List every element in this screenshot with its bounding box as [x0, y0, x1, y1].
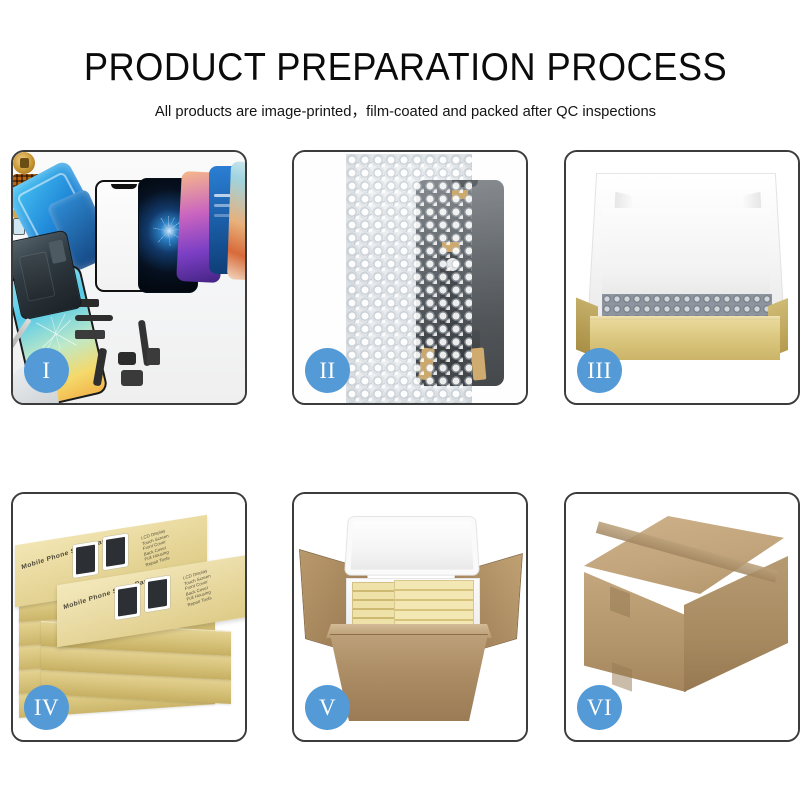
bubble-texture	[346, 154, 472, 403]
product-preparation-process-page: PRODUCT PREPARATION PROCESS All products…	[0, 0, 811, 811]
step-badge-3: III	[577, 348, 622, 393]
tape-right-icon	[471, 347, 487, 380]
step-badge-1: I	[24, 348, 69, 393]
gradient-phone-icon	[227, 161, 245, 280]
box-screen-thumb	[103, 533, 128, 570]
box-label-text: Mobile Phone Spare Parts	[21, 536, 112, 571]
process-step-panel-1: I	[11, 150, 247, 405]
foam-box-lid	[344, 516, 480, 576]
vibration-motor-icon	[13, 152, 35, 174]
carton-body	[330, 634, 488, 721]
speaker-icon	[121, 370, 143, 386]
step-badge-6: VI	[577, 685, 622, 730]
foam-pad	[602, 208, 770, 300]
box-spec-list: LCD Display Touch Screen Front Cover Bac…	[141, 519, 200, 568]
button-part-icon	[118, 352, 136, 365]
bubble-bag	[346, 154, 472, 403]
process-step-panel-6: VI	[564, 492, 800, 742]
earpiece-strip-icon	[75, 315, 113, 321]
process-step-panel-4: Mobile Phone Spare Parts LCD Display Tou…	[11, 492, 247, 742]
camera-module-icon	[147, 348, 160, 365]
box-screen-thumb	[73, 541, 98, 578]
carton-left-face	[584, 572, 686, 692]
box-spec-list: LCD Display Touch Screen Front Cover Bac…	[183, 559, 242, 608]
box-front	[590, 320, 780, 360]
step-badge-5: V	[305, 685, 350, 730]
box-label-text: Mobile Phone Spare Parts	[63, 576, 154, 611]
process-step-grid: I II	[0, 0, 811, 811]
step-badge-2: II	[305, 348, 350, 393]
step-badge-4: IV	[24, 685, 69, 730]
process-step-panel-3: III	[564, 150, 800, 405]
box-screen-thumb	[115, 583, 140, 620]
connector-icon	[75, 330, 105, 339]
box-screen-thumb	[145, 575, 170, 612]
process-step-panel-2: II	[292, 150, 528, 405]
process-step-panel-5: V	[292, 492, 528, 742]
